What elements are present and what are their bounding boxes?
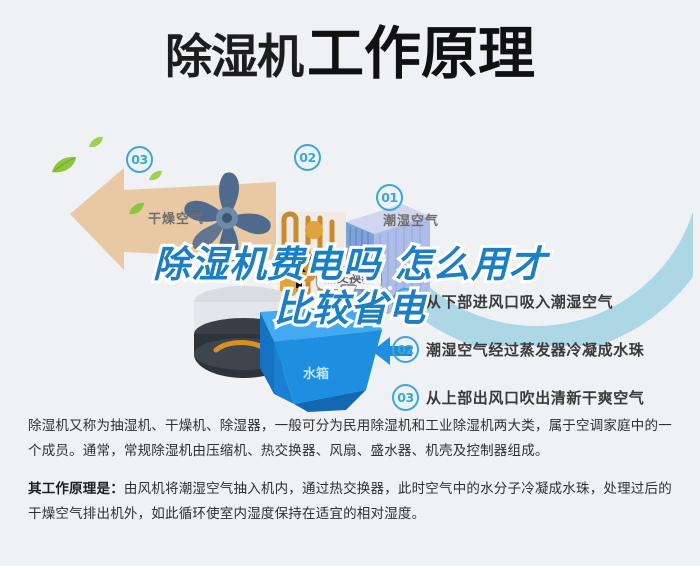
- page-title-main: 工作原理: [307, 21, 535, 87]
- page-root: 除湿机工作原理: [0, 0, 700, 566]
- leaf-icon-3: [128, 202, 145, 216]
- article-body: 除湿机又称为抽湿机、干燥机、除湿器，一般可分为民用除湿机和工业除湿机两大类，属于…: [28, 414, 674, 540]
- callout-pointer-icon: [342, 286, 356, 300]
- badge-02-diagram: 02: [294, 144, 321, 171]
- badge-01-diagram: 01: [376, 184, 403, 211]
- water-tank-label-text: 水箱: [303, 366, 329, 382]
- article-paragraph-2-rest: 由风机将潮湿空气抽入机内，通过热交换器，此时空气中的水分子冷凝成水珠，处理过后的…: [28, 481, 672, 522]
- badge-03-diagram: 03: [126, 146, 153, 173]
- step-text-01: 从下部进风口吸入潮湿空气: [426, 291, 613, 312]
- badge-02-step: 02: [392, 336, 419, 363]
- leaf-icon-1: [50, 155, 78, 175]
- article-paragraph-2-lead: 其工作原理是：: [28, 481, 124, 497]
- step-item-01: 01 从下部进风口吸入潮湿空气: [392, 288, 644, 315]
- dry-air-label: 干燥空气: [148, 208, 204, 227]
- badge-03-step: 03: [392, 384, 419, 411]
- water-tank-icon: 水箱: [254, 298, 384, 419]
- step-item-03: 03 从上部出风口吹出清新干爽空气: [392, 384, 644, 411]
- leaf-icon-2: [88, 136, 104, 149]
- step-text-02: 潮湿空气经过蒸发器冷凝成水珠: [426, 339, 644, 360]
- article-paragraph-2: 其工作原理是：由风机将潮湿空气抽入机内，通过热交换器，此时空气中的水分子冷凝成水…: [28, 477, 674, 527]
- badge-01-step: 01: [392, 288, 419, 315]
- step-text-03: 从上部出风口吹出清新干爽空气: [426, 387, 644, 408]
- page-title: 除湿机工作原理: [0, 26, 700, 83]
- heat-exchanger-callout: 热交换器: [316, 266, 382, 290]
- step-item-02: 02 潮湿空气经过蒸发器冷凝成水珠: [392, 336, 644, 363]
- article-paragraph-1: 除湿机又称为抽湿机、干燥机、除湿器，一般可分为民用除湿机和工业除湿机两大类，属于…: [28, 414, 674, 464]
- leaf-icon-4: [148, 170, 163, 182]
- humid-air-label: 潮湿空气: [383, 210, 439, 229]
- diagram-stage: 水箱 03 02 01 热交换器 干燥空气 潮湿空气 01 从下部进风口吸入潮湿…: [0, 120, 700, 410]
- page-title-prefix: 除湿机: [165, 30, 303, 85]
- steps-list: 01 从下部进风口吸入潮湿空气 02 潮湿空气经过蒸发器冷凝成水珠 03 从上部…: [392, 288, 644, 432]
